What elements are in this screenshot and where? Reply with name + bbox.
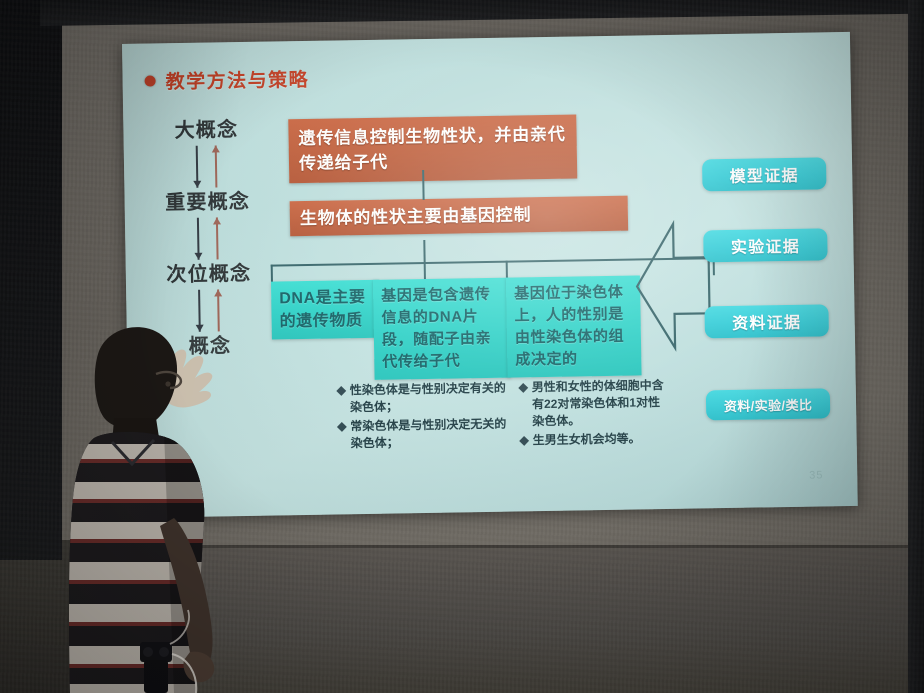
list-item: 生男生女机会均等。: [520, 430, 670, 449]
diamond-bullet-icon: [336, 386, 346, 396]
evidence-box-data: 资料证据: [704, 304, 829, 338]
sub-concept-box-dna: DNA是主要的遗传物质: [271, 280, 380, 340]
ladder-label-important: 重要概念: [142, 188, 272, 218]
evidence-box-experiment: 实验证据: [703, 228, 828, 262]
list-item: 常染色体是与性别决定无关的染色体；: [338, 416, 511, 453]
ladder-arrows-2: [143, 216, 274, 262]
page-title: 教学方法与策略: [165, 65, 309, 94]
bullet-text: 男性和女性的体细胞中含有22对常染色体和1对性染色体。: [532, 377, 671, 430]
left-arrow-outline-icon: [633, 219, 713, 352]
arrow-down-icon: [193, 146, 203, 188]
list-item: 性染色体是与性别决定有关的染色体；: [338, 380, 511, 417]
ladder-label-big: 大概念: [141, 116, 271, 146]
big-concept-box: 遗传信息控制生物性状，并由亲代传递给子代: [288, 114, 577, 183]
connector-drop-1: [271, 265, 273, 283]
connector-drop-3: [506, 261, 508, 279]
ladder-label-sub: 次位概念: [144, 260, 274, 290]
bullet-text: 常染色体是与性别决定无关的染色体；: [350, 416, 511, 453]
wall-dark-right-panel: [908, 0, 924, 693]
microphone-transmitter: [140, 642, 172, 693]
evidence-box-combined: 资料/实验/类比: [706, 388, 830, 420]
bullet-column-right: 男性和女性的体细胞中含有22对常染色体和1对性染色体。 生男生女机会均等。: [520, 377, 671, 451]
connector-drop-2: [424, 262, 426, 280]
arrow-down-icon: [194, 218, 204, 260]
sub-concept-box-gene: 基因是包含遗传信息的DNA片段，随配子由亲代传给子代: [373, 278, 511, 380]
ladder-arrows-1: [142, 144, 273, 190]
diamond-bullet-icon: [518, 383, 528, 393]
bullet-column-left: 性染色体是与性别决定有关的染色体； 常染色体是与性别决定无关的染色体；: [338, 380, 511, 455]
presenter-head: [95, 327, 177, 428]
title-bullet-icon: [145, 75, 156, 86]
bullet-text: 生男生女机会均等。: [532, 430, 670, 449]
connector-line-vertical-mid: [423, 240, 425, 262]
slide-title-row: 教学方法与策略: [144, 65, 309, 95]
bullet-text: 性染色体是与性别决定有关的染色体；: [350, 380, 511, 417]
important-concept-box: 生物体的性状主要由基因控制: [290, 196, 629, 237]
arrow-up-icon: [212, 145, 222, 187]
diamond-bullet-icon: [337, 422, 347, 432]
wall-dark-left-panel: [0, 0, 62, 560]
slide-page-number: 35: [809, 469, 823, 481]
arrow-up-icon: [213, 217, 223, 259]
diamond-bullet-icon: [519, 436, 529, 446]
evidence-box-model: 模型证据: [702, 157, 827, 191]
scene: 教学方法与策略 大概念 重要概念 次位概念 概念: [0, 0, 924, 693]
presenter-silhouette: [56, 322, 286, 693]
sub-concept-box-chromosome: 基因位于染色体上，人的性别是由性染色体的组成决定的: [506, 275, 642, 377]
list-item: 男性和女性的体细胞中含有22对常染色体和1对性染色体。: [520, 377, 671, 430]
